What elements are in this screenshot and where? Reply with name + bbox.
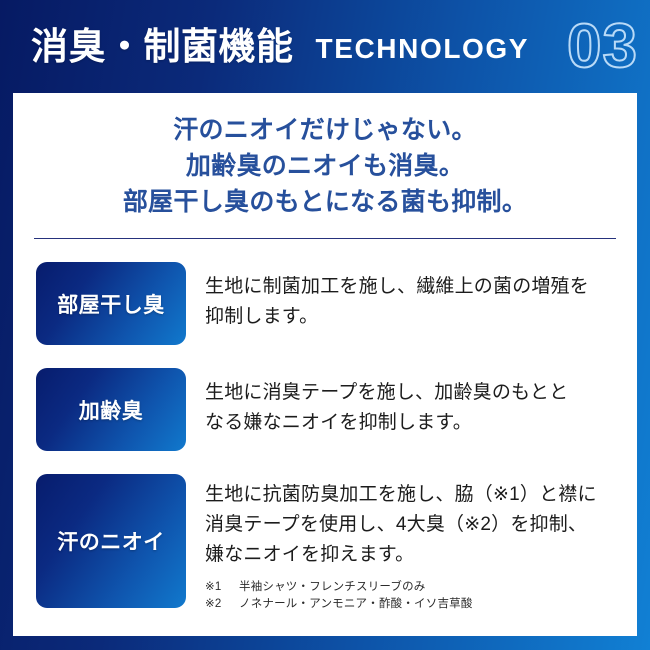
header-subtitle: TECHNOLOGY — [316, 35, 530, 63]
desc-line: 生地に抗菌防臭加工を施し、脇（※1）と襟に — [205, 480, 618, 510]
feature-desc-wrap-roomdry: 生地に制菌加工を施し、繊維上の菌の増殖を 抑制します。 — [186, 262, 618, 332]
desc-line: 生地に制菌加工を施し、繊維上の菌の増殖を — [205, 272, 618, 302]
section-divider — [34, 238, 616, 239]
page-title: 消臭・制菌機能 — [31, 28, 294, 65]
feature-desc-wrap-sweatodor: 生地に抗菌防臭加工を施し、脇（※1）と襟に 消臭テープを使用し、4大臭（※2）を… — [186, 474, 618, 613]
footnote-mark: ※1 — [205, 579, 239, 596]
lead-line-2: 加齢臭のニオイも消臭。 — [13, 148, 637, 184]
feature-desc-wrap-agingodor: 生地に消臭テープを施し、加齢臭のもとと なる嫌なニオイを抑制します。 — [186, 368, 618, 438]
footnote-item: ※1半袖シャツ・フレンチスリーブのみ — [205, 579, 618, 596]
footnote-text: ノネナール・アンモニア・酢酸・イソ吉草酸 — [239, 598, 473, 610]
desc-line: 生地に消臭テープを施し、加齢臭のもとと — [205, 378, 618, 408]
feature-description-agingodor: 生地に消臭テープを施し、加齢臭のもとと なる嫌なニオイを抑制します。 — [205, 378, 618, 438]
feature-row-roomdry: 部屋干し臭 生地に制菌加工を施し、繊維上の菌の増殖を 抑制します。 — [36, 262, 618, 345]
feature-list: 部屋干し臭 生地に制菌加工を施し、繊維上の菌の増殖を 抑制します。 加齢臭 生地… — [36, 262, 618, 613]
feature-description-sweatodor: 生地に抗菌防臭加工を施し、脇（※1）と襟に 消臭テープを使用し、4大臭（※2）を… — [205, 480, 618, 570]
technology-number: 03 — [567, 16, 638, 78]
footnote-text: 半袖シャツ・フレンチスリーブのみ — [239, 581, 426, 593]
lead-line-3: 部屋干し臭のもとになる菌も抑制。 — [13, 184, 637, 220]
feature-row-agingodor: 加齢臭 生地に消臭テープを施し、加齢臭のもとと なる嫌なニオイを抑制します。 — [36, 368, 618, 451]
feature-row-sweatodor: 汗のニオイ 生地に抗菌防臭加工を施し、脇（※1）と襟に 消臭テープを使用し、4大… — [36, 474, 618, 613]
lead-line-1: 汗のニオイだけじゃない。 — [13, 112, 637, 148]
feature-tag-roomdry: 部屋干し臭 — [36, 262, 186, 345]
footnote-list: ※1半袖シャツ・フレンチスリーブのみ ※2ノネナール・アンモニア・酢酸・イソ吉草… — [205, 579, 618, 613]
desc-line: 嫌なニオイを抑えます。 — [205, 540, 618, 570]
desc-line: 抑制します。 — [205, 302, 618, 332]
feature-description-roomdry: 生地に制菌加工を施し、繊維上の菌の増殖を 抑制します。 — [205, 272, 618, 332]
header-band: 消臭・制菌機能 TECHNOLOGY 03 — [0, 0, 650, 93]
footnote-item: ※2ノネナール・アンモニア・酢酸・イソ吉草酸 — [205, 596, 618, 613]
feature-tag-agingodor: 加齢臭 — [36, 368, 186, 451]
feature-tag-sweatodor: 汗のニオイ — [36, 474, 186, 608]
footnote-mark: ※2 — [205, 596, 239, 613]
infographic-card: 消臭・制菌機能 TECHNOLOGY 03 汗のニオイだけじゃない。 加齢臭のニ… — [0, 0, 650, 650]
desc-line: 消臭テープを使用し、4大臭（※2）を抑制、 — [205, 510, 618, 540]
content-panel: 汗のニオイだけじゃない。 加齢臭のニオイも消臭。 部屋干し臭のもとになる菌も抑制… — [13, 93, 637, 636]
lead-headline: 汗のニオイだけじゃない。 加齢臭のニオイも消臭。 部屋干し臭のもとになる菌も抑制… — [13, 93, 637, 220]
desc-line: なる嫌なニオイを抑制します。 — [205, 408, 618, 438]
